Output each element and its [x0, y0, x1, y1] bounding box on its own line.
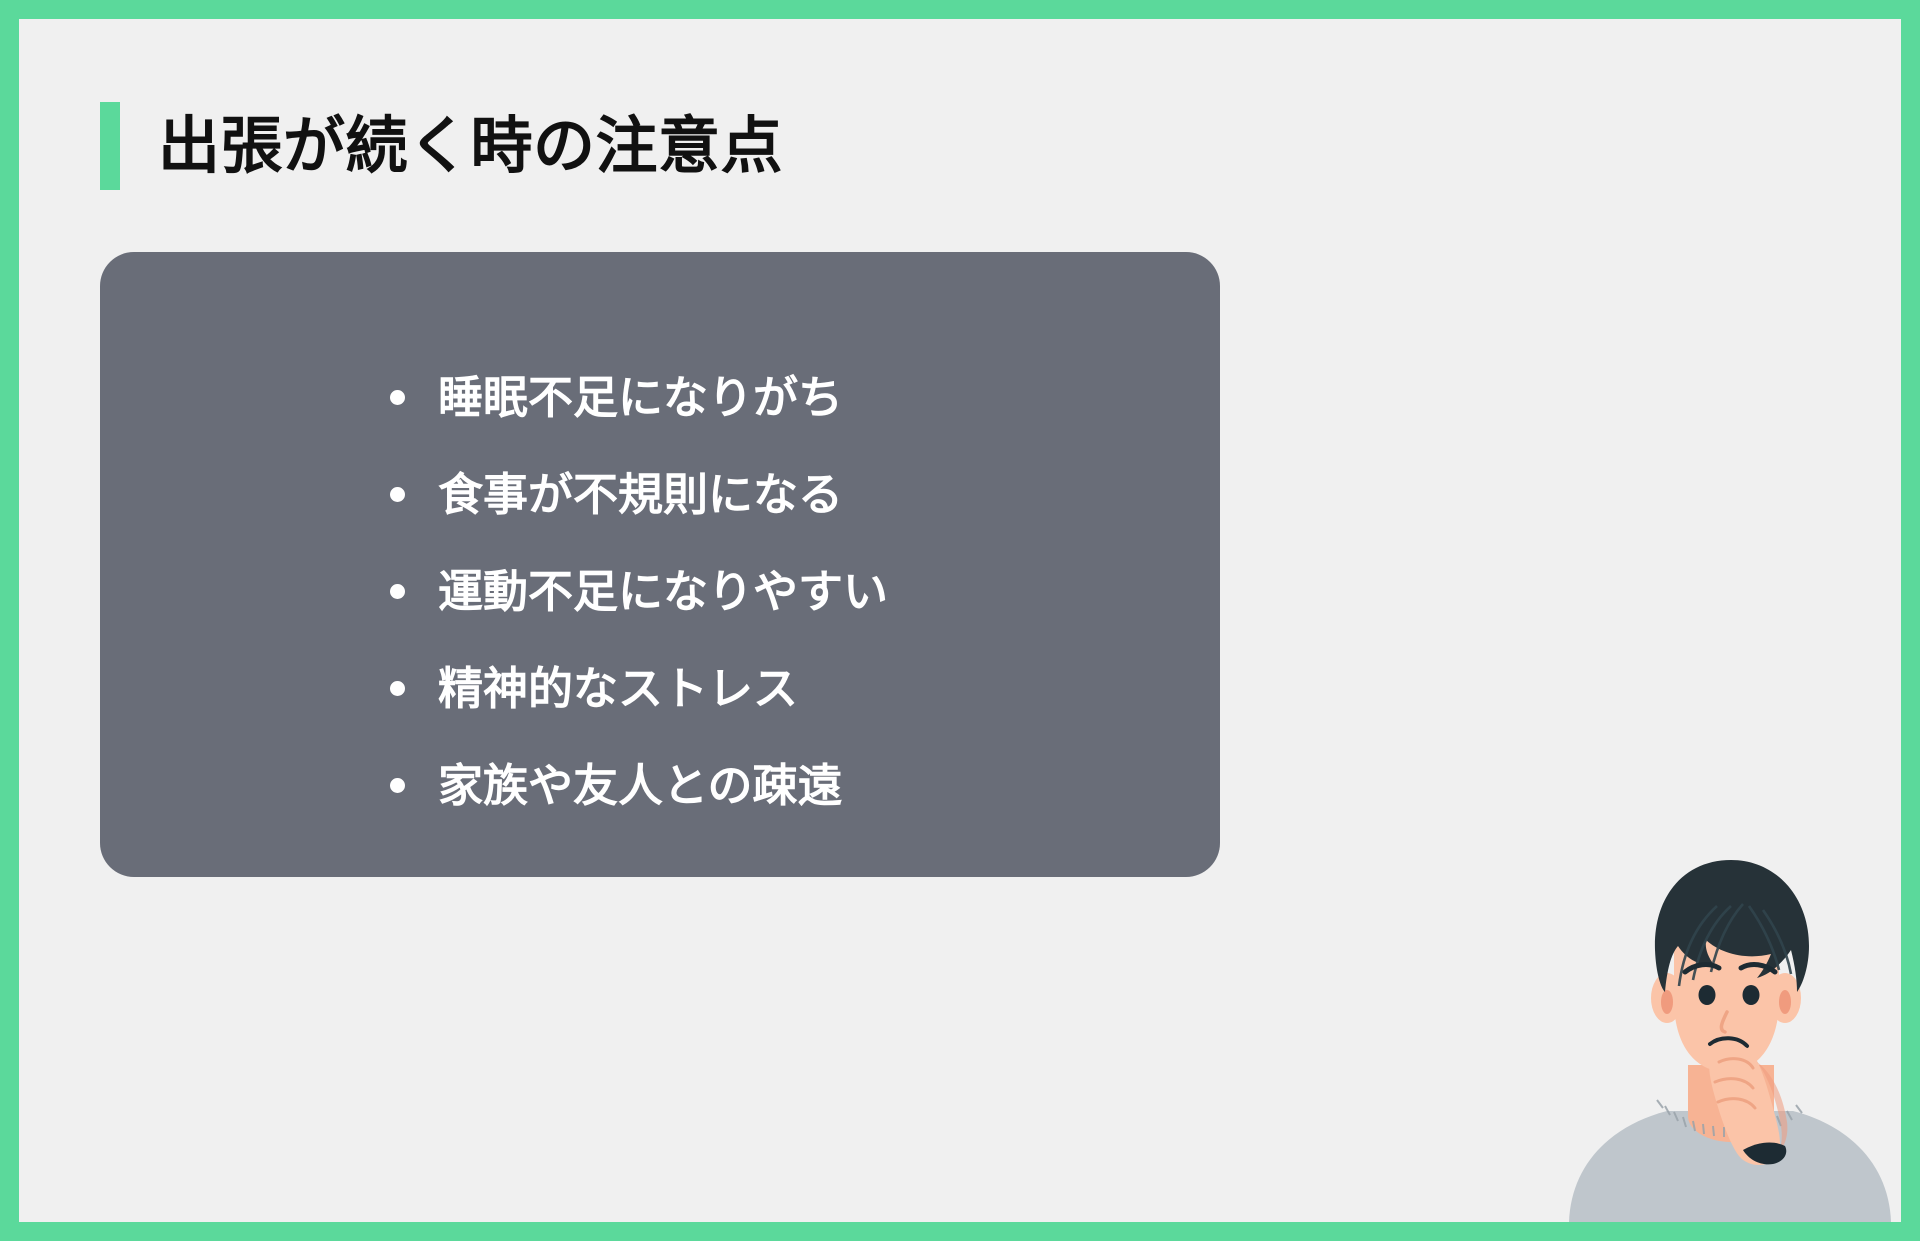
title-text: 出張が続く時の注意点 [158, 115, 783, 177]
ear-left-inner [1661, 990, 1673, 1014]
ear-right-inner [1779, 990, 1791, 1014]
thinking-man-illustration [1561, 850, 1901, 1222]
list-item-label: 睡眠不足になりがち [438, 375, 843, 420]
eye-left [1699, 985, 1716, 1005]
eye-right [1743, 985, 1760, 1005]
list-item: 睡眠不足になりがち [390, 349, 843, 446]
list-item-label: 運動不足になりやすい [438, 569, 888, 614]
bullet-dot-icon [390, 487, 405, 502]
content-card: 睡眠不足になりがち 食事が不規則になる 運動不足になりやすい 精神的なストレス … [100, 252, 1220, 877]
list-item: 運動不足になりやすい [390, 543, 888, 640]
list-item: 食事が不規則になる [390, 446, 843, 543]
title-accent-bar [100, 102, 120, 190]
page-title: 出張が続く時の注意点 [100, 101, 783, 191]
bullet-dot-icon [390, 584, 405, 599]
list-item-label: 家族や友人との疎遠 [438, 763, 843, 808]
list-item: 精神的なストレス [390, 640, 798, 737]
bullet-dot-icon [390, 390, 405, 405]
bullet-dot-icon [390, 681, 405, 696]
slide-content-area: 出張が続く時の注意点 睡眠不足になりがち 食事が不規則になる 運動不足になりやす… [19, 19, 1901, 1222]
bullet-list: 睡眠不足になりがち 食事が不規則になる 運動不足になりやすい 精神的なストレス … [100, 349, 1220, 834]
list-item-label: 食事が不規則になる [438, 472, 843, 517]
bullet-dot-icon [390, 778, 405, 793]
list-item-label: 精神的なストレス [438, 666, 798, 711]
list-item: 家族や友人との疎遠 [390, 737, 843, 834]
slide-root: 出張が続く時の注意点 睡眠不足になりがち 食事が不規則になる 運動不足になりやす… [0, 0, 1920, 1241]
